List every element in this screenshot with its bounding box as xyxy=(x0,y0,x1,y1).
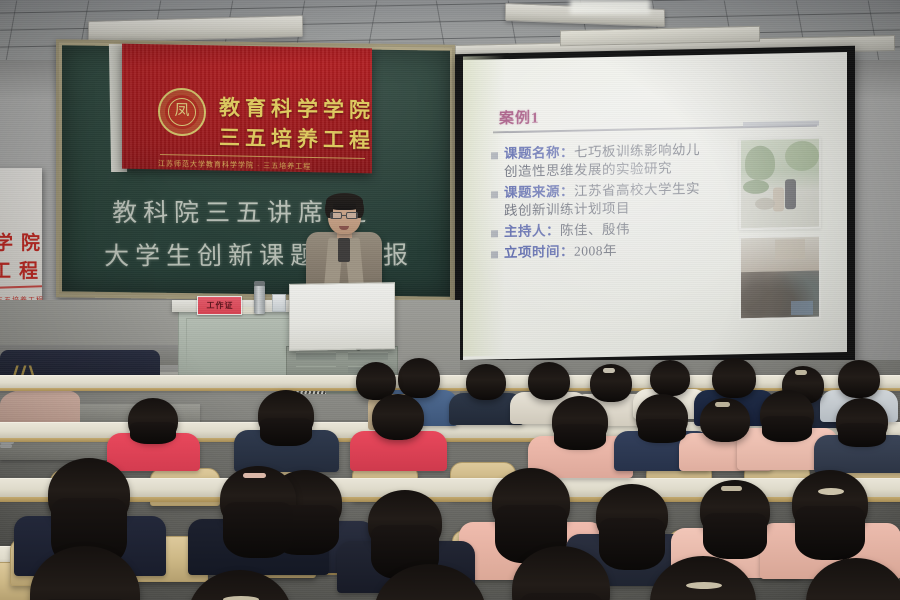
student-head-back xyxy=(372,394,424,440)
presentation-slide: 案例1 课题名称：七巧板训练影响幼儿创造性思维发展的实验研究 课题来源：江苏省高… xyxy=(463,52,847,360)
lectern-front-panel xyxy=(289,282,395,351)
speaker-eyeglass-lens-left xyxy=(330,212,342,219)
student-long-hair xyxy=(838,423,886,447)
speaker-eyeglass-lens-right xyxy=(346,212,358,219)
slide-bullet-item: 主持人：陈佳、殷伟 xyxy=(491,219,711,242)
small-white-box xyxy=(272,294,286,312)
vertical-banner-line-1: 学院 xyxy=(0,228,48,255)
banner-line-1: 教育科学学院 xyxy=(219,92,375,125)
bullet-keyword: 主持人： xyxy=(504,223,560,239)
bullet-keyword: 立项时间： xyxy=(504,244,574,260)
ceiling-grid-line xyxy=(0,0,900,14)
thermos-flask xyxy=(254,284,265,314)
photo-whiteboard xyxy=(775,239,805,260)
photo-person-crouching xyxy=(773,187,784,211)
student-long-hair xyxy=(260,418,312,446)
hair-clip xyxy=(721,486,742,491)
hair-clip xyxy=(603,368,616,373)
student-long-hair xyxy=(703,513,767,559)
student-long-hair xyxy=(762,416,812,442)
photo-tree xyxy=(745,145,775,180)
audience-area: SP⟨⟨⟩ xyxy=(0,350,900,600)
name-placard-text: 工作证 xyxy=(200,300,240,311)
slide-title: 案例1 xyxy=(499,106,540,128)
slide-bullet-item: 课题来源：江苏省高校大学生实践创新训练计划项目 xyxy=(491,180,711,221)
photo-person-standing xyxy=(785,179,796,209)
slide-bullet-item: 课题名称：七巧板训练影响幼儿创造性思维发展的实验研究 xyxy=(491,141,711,182)
screen-left-color-cast xyxy=(463,56,505,357)
speaker-eyeglass-bridge xyxy=(342,215,346,216)
student-long-hair xyxy=(130,422,176,444)
thermos-cap xyxy=(254,281,265,286)
ponytail-tie xyxy=(223,596,258,600)
hair-clip xyxy=(795,370,808,375)
student-head-back xyxy=(398,358,440,398)
vertical-banner-line-2: 工程 xyxy=(0,256,46,283)
banner-line-2: 三五培养工程 xyxy=(219,122,375,155)
student-long-hair xyxy=(554,424,606,450)
slide-bullet-item: 立项时间：2008年 xyxy=(491,240,711,263)
student-long-hair xyxy=(599,518,665,570)
student-desk-row xyxy=(0,375,900,388)
student-head-back xyxy=(838,360,880,398)
slide-bullet-list: 课题名称：七巧板训练影响幼儿创造性思维发展的实验研究 课题来源：江苏省高校大学生… xyxy=(491,141,711,266)
bullet-body: 2008年 xyxy=(574,243,617,259)
bullet-body: 陈佳、殷伟 xyxy=(560,222,630,238)
student-long-hair xyxy=(795,506,865,560)
emblem-phoenix-icon: 凤 xyxy=(172,101,192,121)
hair-clip-pink xyxy=(243,473,266,478)
ceiling-light-glare xyxy=(570,0,650,14)
slide-photo-outdoor-campus xyxy=(739,137,821,231)
student-long-hair xyxy=(638,419,686,443)
student-long-hair xyxy=(516,593,606,600)
lecture-hall-photo: 教科院三五讲席 之 大学生创新课题的申报 凤 教育科学学院 三五培养工程 江苏师… xyxy=(0,0,900,600)
slide-photo-classroom-activity xyxy=(739,235,821,321)
photo-blue-object xyxy=(791,301,813,315)
bullet-keyword: 课题来源： xyxy=(504,184,574,200)
bullet-keyword: 课题名称： xyxy=(504,145,574,161)
student-head-back xyxy=(650,360,690,396)
hair-clip xyxy=(715,402,730,407)
student-head-back xyxy=(466,364,506,400)
student-head-back xyxy=(712,358,756,398)
eyeglasses-glint xyxy=(0,444,12,448)
photo-shrub xyxy=(743,180,769,195)
student-long-hair xyxy=(223,502,293,558)
photo-tree xyxy=(785,141,819,172)
student-head-back xyxy=(528,362,570,400)
ponytail-tie xyxy=(686,582,722,589)
speaker-shirt xyxy=(338,238,350,262)
